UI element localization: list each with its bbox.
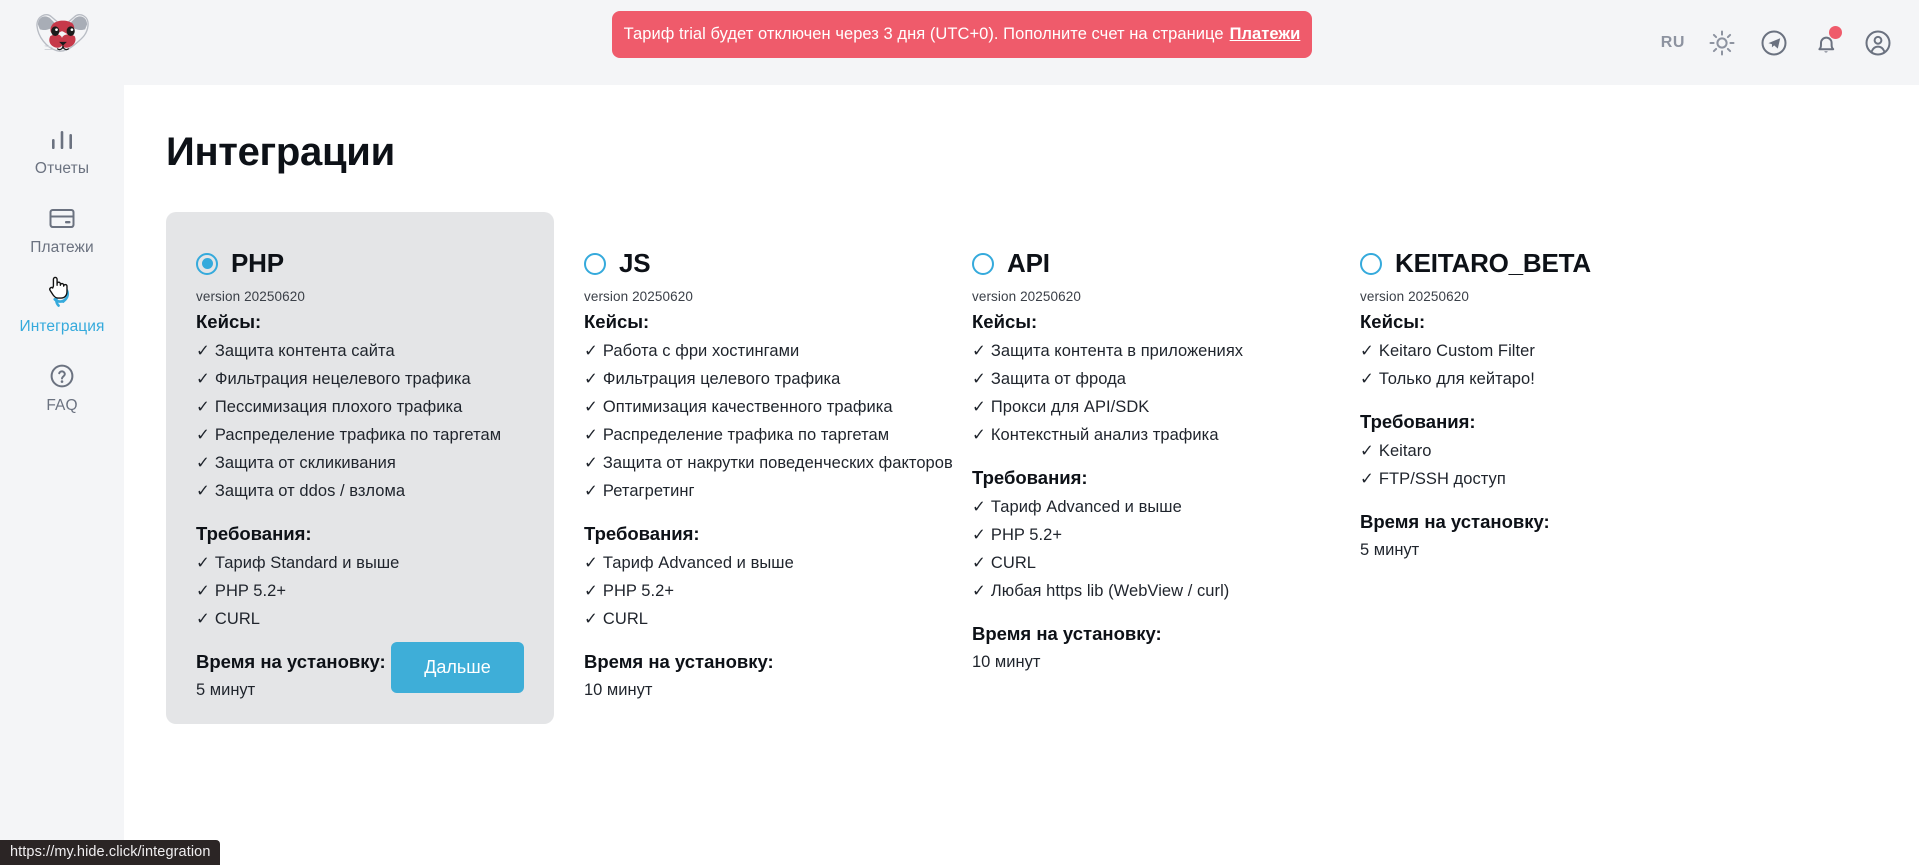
requirement-item-label: CURL xyxy=(603,610,648,628)
install-time-title: Время на установку: xyxy=(1360,511,1688,533)
integration-cards: PHPversion 20250620Кейсы:✓Защита контент… xyxy=(166,212,1919,724)
check-icon: ✓ xyxy=(196,610,210,628)
requirement-item-label: CURL xyxy=(215,610,260,628)
integration-card[interactable]: JSversion 20250620Кейсы:✓Работа с фри хо… xyxy=(554,212,942,724)
check-icon: ✓ xyxy=(584,454,598,472)
telegram-icon[interactable] xyxy=(1759,28,1789,58)
requirement-item: ✓PHP 5.2+ xyxy=(196,581,524,601)
card-title: PHP xyxy=(231,248,284,279)
check-icon: ✓ xyxy=(196,426,210,444)
radio-dot xyxy=(1366,258,1377,269)
app-root: Отчеты Платежи xyxy=(0,0,1919,865)
requirements-title: Требования: xyxy=(972,467,1300,489)
case-item-label: Оптимизация качественного трафика xyxy=(603,398,893,416)
check-icon: ✓ xyxy=(196,342,210,360)
check-icon: ✓ xyxy=(972,398,986,416)
check-icon: ✓ xyxy=(972,526,986,544)
integration-card[interactable]: APIversion 20250620Кейсы:✓Защита контент… xyxy=(942,212,1330,696)
sidebar: Отчеты Платежи xyxy=(0,0,124,865)
requirement-item-label: FTP/SSH доступ xyxy=(1379,470,1506,488)
raccoon-logo-icon[interactable] xyxy=(31,10,93,64)
card-header: API xyxy=(972,248,1300,279)
requirement-item-label: PHP 5.2+ xyxy=(215,582,286,600)
credit-card-icon xyxy=(46,202,78,234)
case-item: ✓Распределение трафика по таргетам xyxy=(196,425,524,445)
check-icon: ✓ xyxy=(584,342,598,360)
case-item: ✓Только для кейтаро! xyxy=(1360,369,1688,389)
case-item: ✓Защита от ddos / взлома xyxy=(196,481,524,501)
sidebar-item-otchety[interactable]: Отчеты xyxy=(0,112,124,191)
check-icon: ✓ xyxy=(972,498,986,516)
case-item: ✓Защита от накрутки поведенческих фактор… xyxy=(584,453,912,473)
requirement-item: ✓Тариф Advanced и выше xyxy=(972,497,1300,517)
requirement-item-label: PHP 5.2+ xyxy=(991,526,1062,544)
case-item: ✓Keitaro Custom Filter xyxy=(1360,341,1688,361)
case-item: ✓Оптимизация качественного трафика xyxy=(584,397,912,417)
case-item: ✓Пессимизация плохого трафика xyxy=(196,397,524,417)
requirement-item-label: Любая https lib (WebView / curl) xyxy=(991,582,1229,600)
card-version: version 20250620 xyxy=(972,289,1300,304)
requirement-item: ✓CURL xyxy=(972,553,1300,573)
notification-badge xyxy=(1829,26,1842,39)
case-item: ✓Прокси для API/SDK xyxy=(972,397,1300,417)
cases-title: Кейсы: xyxy=(972,311,1300,333)
install-time-title: Время на установку: xyxy=(584,651,912,673)
check-icon: ✓ xyxy=(196,554,210,572)
check-icon: ✓ xyxy=(584,610,598,628)
card-title: API xyxy=(1007,248,1050,279)
check-icon: ✓ xyxy=(196,370,210,388)
case-item-label: Только для кейтаро! xyxy=(1379,370,1535,388)
check-icon: ✓ xyxy=(972,554,986,572)
check-icon: ✓ xyxy=(972,426,986,444)
alert-payments-link[interactable]: Платежи xyxy=(1230,25,1301,44)
sidebar-nav: Отчеты Платежи xyxy=(0,112,124,428)
bar-chart-icon xyxy=(46,123,78,155)
case-item-label: Распределение трафика по таргетам xyxy=(215,426,501,444)
check-icon: ✓ xyxy=(972,342,986,360)
sidebar-item-faq[interactable]: FAQ xyxy=(0,349,124,428)
cases-title: Кейсы: xyxy=(1360,311,1688,333)
case-item-label: Защита от ddos / взлома xyxy=(215,482,405,500)
check-icon: ✓ xyxy=(584,398,598,416)
requirement-item-label: Keitaro xyxy=(1379,442,1432,460)
check-icon: ✓ xyxy=(972,582,986,600)
install-time-value: 10 минут xyxy=(972,653,1300,672)
card-header: KEITARO_BETA xyxy=(1360,248,1688,279)
sidebar-item-label: Отчеты xyxy=(35,160,89,178)
card-version: version 20250620 xyxy=(584,289,912,304)
case-item: ✓Работа с фри хостингами xyxy=(584,341,912,361)
case-item-label: Контекстный анализ трафика xyxy=(991,426,1219,444)
requirement-item: ✓PHP 5.2+ xyxy=(972,525,1300,545)
install-time-value: 5 минут xyxy=(1360,541,1688,560)
cases-title: Кейсы: xyxy=(196,311,524,333)
check-icon: ✓ xyxy=(584,582,598,600)
user-avatar-icon[interactable] xyxy=(1863,28,1893,58)
case-item: ✓Фильтрация целевого трафика xyxy=(584,369,912,389)
page-title: Интеграции xyxy=(166,130,1919,175)
bell-icon[interactable] xyxy=(1811,28,1841,58)
requirements-title: Требования: xyxy=(1360,411,1688,433)
card-version: version 20250620 xyxy=(1360,289,1688,304)
case-item-label: Защита контента в приложениях xyxy=(991,342,1243,360)
requirement-item: ✓PHP 5.2+ xyxy=(584,581,912,601)
sun-icon[interactable] xyxy=(1707,28,1737,58)
radio-dot xyxy=(590,258,601,269)
case-item-label: Ретагретинг xyxy=(603,482,695,500)
requirement-item: ✓Любая https lib (WebView / curl) xyxy=(972,581,1300,601)
card-header: JS xyxy=(584,248,912,279)
case-item: ✓Распределение трафика по таргетам xyxy=(584,425,912,445)
card-title: KEITARO_BETA xyxy=(1395,248,1591,279)
card-title: JS xyxy=(619,248,650,279)
sidebar-item-integraciya[interactable]: Интеграция xyxy=(0,270,124,349)
case-item-label: Распределение трафика по таргетам xyxy=(603,426,889,444)
radio-button-keitaro_beta[interactable] xyxy=(1360,253,1382,275)
case-item: ✓Фильтрация нецелевого трафика xyxy=(196,369,524,389)
install-time-title: Время на установку: xyxy=(972,623,1300,645)
requirement-item-label: Тариф Advanced и выше xyxy=(991,498,1182,516)
sidebar-item-label: Интеграция xyxy=(19,318,104,336)
next-button[interactable]: Дальше xyxy=(391,642,524,693)
requirement-item: ✓FTP/SSH доступ xyxy=(1360,469,1688,489)
radio-dot xyxy=(978,258,989,269)
requirement-item: ✓Тариф Advanced и выше xyxy=(584,553,912,573)
topbar: Тариф trial будет отключен через 3 дня (… xyxy=(124,0,1919,85)
language-switch[interactable]: RU xyxy=(1661,34,1685,52)
requirement-item: ✓Keitaro xyxy=(1360,441,1688,461)
case-item-label: Защита контента сайта xyxy=(215,342,395,360)
requirements-title: Требования: xyxy=(584,523,912,545)
case-item: ✓Защита контента сайта xyxy=(196,341,524,361)
check-icon: ✓ xyxy=(196,582,210,600)
requirement-item: ✓CURL xyxy=(584,609,912,629)
requirement-item-label: PHP 5.2+ xyxy=(603,582,674,600)
main-content: Интеграции PHPversion 20250620Кейсы:✓Защ… xyxy=(124,85,1919,865)
check-icon: ✓ xyxy=(584,426,598,444)
case-item: ✓Защита от фрода xyxy=(972,369,1300,389)
requirements-title: Требования: xyxy=(196,523,524,545)
topbar-icons: RU xyxy=(1661,28,1893,58)
cases-title: Кейсы: xyxy=(584,311,912,333)
check-icon: ✓ xyxy=(584,370,598,388)
check-icon: ✓ xyxy=(1360,342,1374,360)
case-item: ✓Защита от скликивания xyxy=(196,453,524,473)
case-item: ✓Контекстный анализ трафика xyxy=(972,425,1300,445)
question-circle-icon xyxy=(46,360,78,392)
radio-button-js[interactable] xyxy=(584,253,606,275)
check-icon: ✓ xyxy=(196,482,210,500)
case-item: ✓Ретагретинг xyxy=(584,481,912,501)
case-item-label: Защита от фрода xyxy=(991,370,1126,388)
trial-alert-banner: Тариф trial будет отключен через 3 дня (… xyxy=(612,11,1312,58)
check-icon: ✓ xyxy=(1360,470,1374,488)
mouse-cursor-icon xyxy=(47,274,69,307)
requirement-item-label: Тариф Advanced и выше xyxy=(603,554,794,572)
check-icon: ✓ xyxy=(972,370,986,388)
case-item: ✓Защита контента в приложениях xyxy=(972,341,1300,361)
sidebar-item-label: Платежи xyxy=(30,239,94,257)
sidebar-item-platezhi[interactable]: Платежи xyxy=(0,191,124,270)
case-item-label: Прокси для API/SDK xyxy=(991,398,1149,416)
alert-text: Тариф trial будет отключен через 3 дня (… xyxy=(624,25,1224,44)
radio-button-php[interactable] xyxy=(196,253,218,275)
requirement-item-label: Тариф Standard и выше xyxy=(215,554,400,572)
case-item-label: Защита от скликивания xyxy=(215,454,396,472)
integration-card[interactable]: PHPversion 20250620Кейсы:✓Защита контент… xyxy=(166,212,554,724)
case-item-label: Keitaro Custom Filter xyxy=(1379,342,1535,360)
case-item-label: Работа с фри хостингами xyxy=(603,342,799,360)
sidebar-item-label: FAQ xyxy=(46,397,77,415)
browser-status-url: https://my.hide.click/integration xyxy=(0,840,220,865)
radio-button-api[interactable] xyxy=(972,253,994,275)
integration-card[interactable]: KEITARO_BETAversion 20250620Кейсы:✓Keita… xyxy=(1330,212,1718,584)
check-icon: ✓ xyxy=(584,554,598,572)
check-icon: ✓ xyxy=(196,454,210,472)
card-header: PHP xyxy=(196,248,524,279)
card-version: version 20250620 xyxy=(196,289,524,304)
check-icon: ✓ xyxy=(1360,370,1374,388)
check-icon: ✓ xyxy=(1360,442,1374,460)
install-time-value: 10 минут xyxy=(584,681,912,700)
requirement-item: ✓Тариф Standard и выше xyxy=(196,553,524,573)
case-item-label: Фильтрация целевого трафика xyxy=(603,370,840,388)
check-icon: ✓ xyxy=(584,482,598,500)
case-item-label: Пессимизация плохого трафика xyxy=(215,398,463,416)
radio-dot xyxy=(202,258,213,269)
case-item-label: Фильтрация нецелевого трафика xyxy=(215,370,471,388)
case-item-label: Защита от накрутки поведенческих факторо… xyxy=(603,454,953,472)
requirement-item-label: CURL xyxy=(991,554,1036,572)
check-icon: ✓ xyxy=(196,398,210,416)
requirement-item: ✓CURL xyxy=(196,609,524,629)
